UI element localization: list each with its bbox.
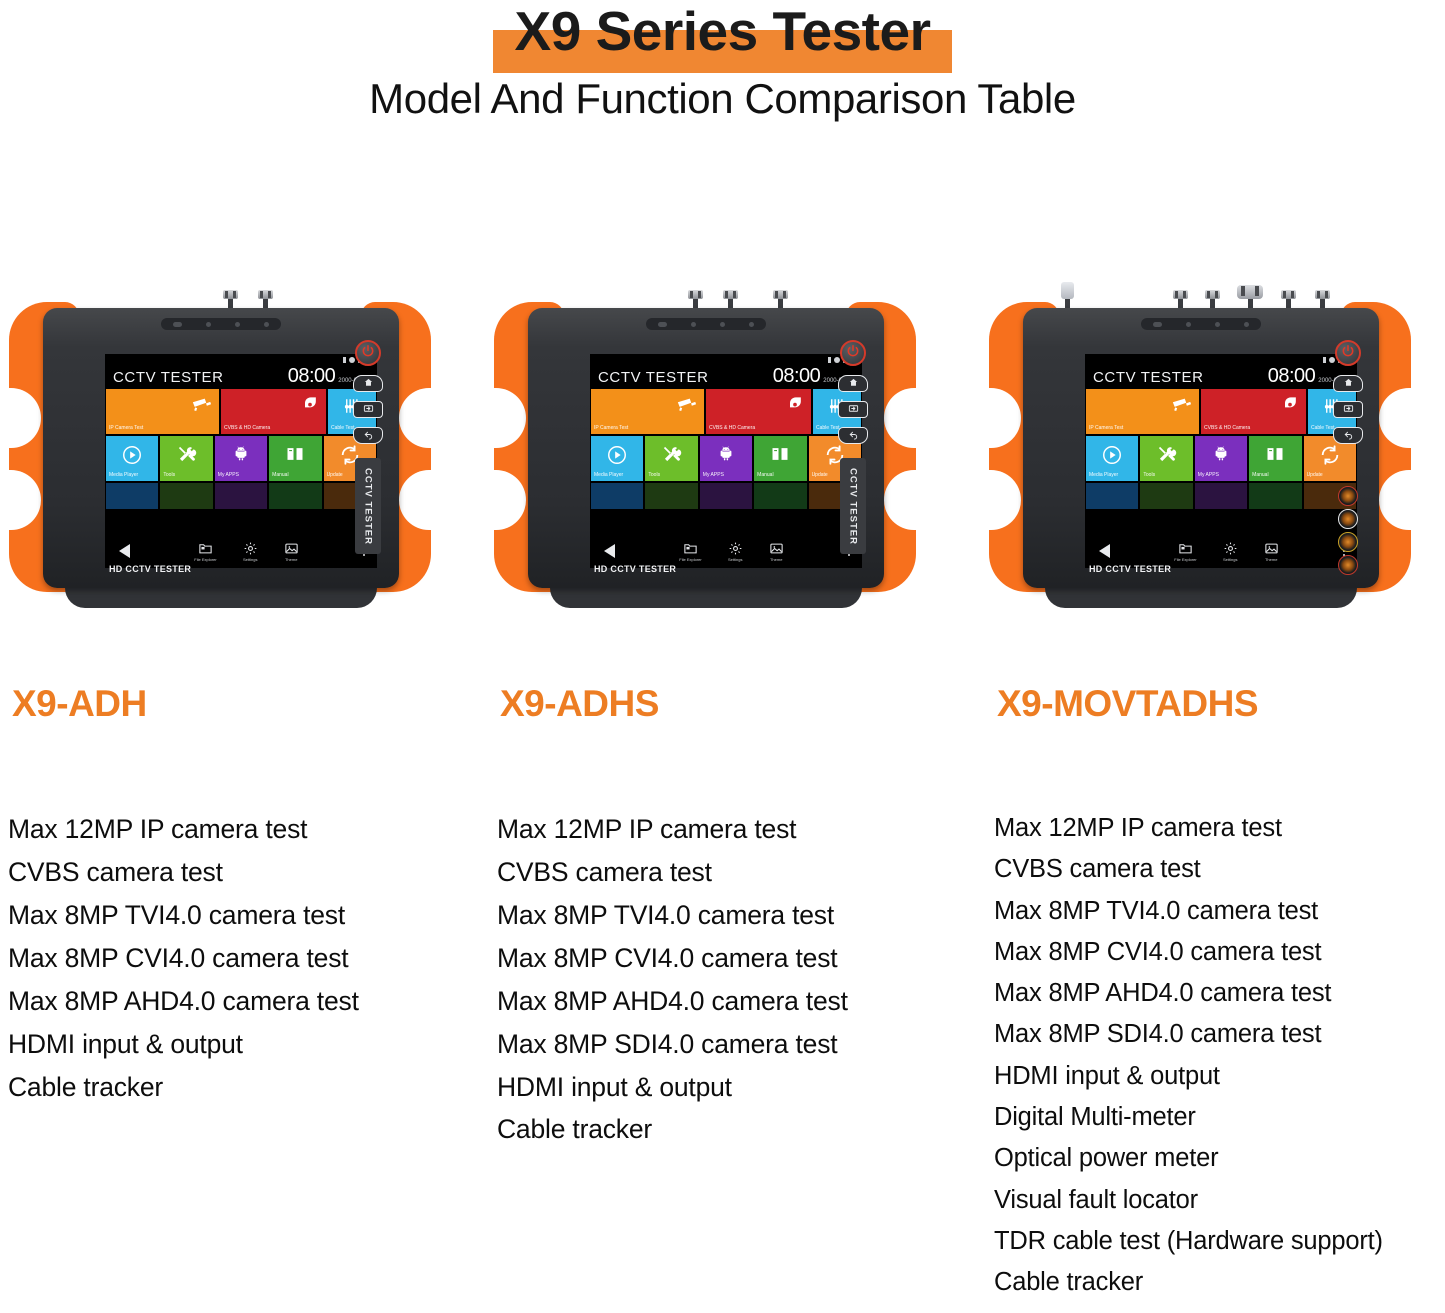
play-icon [591,444,643,470]
app-tile-partial[interactable] [214,482,268,510]
app-tile-partial[interactable] [268,482,322,510]
home-button[interactable] [353,375,383,392]
power-icon [1341,344,1355,363]
home-button[interactable] [1333,375,1363,392]
app-tile-cvbs-hd-camera[interactable]: CVBS & HD Camera [705,388,812,435]
navbar-item-theme[interactable]: Theme [1264,541,1279,562]
app-tile-partial[interactable] [1194,482,1248,510]
nav-back-icon[interactable] [604,544,615,558]
navbar-item-file-explorer[interactable]: File Explorer [1174,541,1196,562]
side-brand-label: CCTV TESTER [840,458,866,554]
device-cell-3: CCTV TESTER08:002000-01-01IP Camera Test… [985,290,1435,620]
navbar-item-label: Theme [285,557,297,562]
app-tile-partial[interactable] [699,482,753,510]
menu-button[interactable] [1333,401,1363,418]
play-icon [1086,444,1138,470]
app-tile-grid: IP Camera TestCVBS & HD CameraCable Test… [105,388,377,510]
device-screen[interactable]: CCTV TESTER08:002000-01-01IP Camera Test… [105,354,377,568]
cctv-tester-device: CCTV TESTER08:002000-01-01IP Camera Test… [985,290,1415,610]
feature-item: Digital Multi-meter [994,1097,1444,1138]
cctv-camera-icon [191,394,213,420]
tile-label: My APPS [1195,472,1219,481]
book-icon [754,444,806,468]
power-button[interactable] [840,340,866,366]
screenshot-icon [362,401,375,419]
app-tile-manual[interactable]: Manual [1248,435,1302,482]
device-model-label: HD CCTV TESTER [1089,564,1171,574]
app-tile-grid: IP Camera TestCVBS & HD CameraCable Test… [1085,388,1357,510]
feature-item: Max 8MP CVI4.0 camera test [497,937,967,980]
gear-icon [728,541,743,556]
feature-item: Cable tracker [8,1066,478,1109]
sd-card-icon [1323,357,1326,363]
app-tile-partial[interactable] [1085,482,1139,510]
app-tile-cvbs-hd-camera[interactable]: CVBS & HD Camera [220,388,327,435]
back-button[interactable] [1333,427,1363,444]
navbar-item-label: Settings [1223,557,1237,562]
title-block: X9 Series Tester [493,4,953,59]
side-button-column: CCTV TESTER [347,336,389,598]
page-subtitle: Model And Function Comparison Table [0,75,1445,123]
tile-row-1: IP Camera TestCVBS & HD CameraCable Test [590,388,862,435]
tools-icon [160,444,212,469]
tile-label: Media Player [106,472,138,481]
feature-item: Max 8MP AHD4.0 camera test [994,973,1444,1014]
feature-list-1: Max 12MP IP camera testCVBS camera testM… [8,808,478,1108]
app-tile-tools[interactable]: Tools [644,435,698,482]
power-icon [361,344,375,363]
device-model-label: HD CCTV TESTER [109,564,191,574]
screenshot-icon [847,401,860,419]
feature-item: Max 8MP AHD4.0 camera test [8,980,478,1023]
android-navbar: File ExplorerSettingsTheme [590,534,862,568]
app-tile-partial[interactable] [1248,482,1302,510]
banana-jack-port [1338,555,1358,575]
tile-row-2: Media PlayerToolsMy APPSManualUpdate [105,435,377,482]
android-navbar: File ExplorerSettingsTheme [1085,534,1357,568]
feature-item: Cable tracker [497,1108,967,1151]
feature-item: Max 8MP TVI4.0 camera test [994,891,1444,932]
menu-button[interactable] [353,401,383,418]
navbar-item-label: Theme [1265,557,1277,562]
banana-jack-port [1338,486,1358,506]
app-tile-partial[interactable] [590,482,644,510]
app-tile-partial[interactable] [159,482,213,510]
navbar-item-label: File Explorer [194,557,216,562]
tile-row-3 [590,482,862,510]
tile-label: Update [809,472,828,481]
chassis-base [65,586,377,608]
banana-jack-port [1338,532,1358,552]
tile-label: IP Camera Test [1086,425,1123,434]
screen-brand-label: CCTV TESTER [598,369,709,388]
feature-item: Cable tracker [994,1262,1444,1303]
screenshot-icon [1342,401,1355,419]
folder-icon [683,541,698,556]
feature-item: Max 12MP IP camera test [8,808,478,851]
dome-camera-icon [785,394,805,418]
feature-item: HDMI input & output [8,1023,478,1066]
play-icon [106,444,158,470]
chassis-base [1045,586,1357,608]
model-name-row: X9-ADH X9-ADHS X9-MOVTADHS [0,683,1445,739]
device-chassis: CCTV TESTER08:002000-01-01IP Camera Test… [528,308,884,588]
navbar-item-theme[interactable]: Theme [769,541,784,562]
feature-item: Max 12MP IP camera test [497,808,967,851]
feature-item: Max 8MP TVI4.0 camera test [8,894,478,937]
tile-label: My APPS [700,472,724,481]
sensor-strip [1141,318,1261,330]
feature-item: Max 12MP IP camera test [994,808,1444,849]
feature-item: Max 8MP SDI4.0 camera test [994,1014,1444,1055]
app-tile-ip-camera-test[interactable]: IP Camera Test [1085,388,1200,435]
book-icon [1249,444,1301,468]
screen-status-bar: CCTV TESTER08:002000-01-01 [1085,354,1357,388]
tile-row-1: IP Camera TestCVBS & HD CameraCable Test [105,388,377,435]
navbar-shortcuts: File ExplorerSettingsTheme [615,541,848,562]
navbar-item-label: Settings [728,557,742,562]
book-icon [269,444,321,468]
navbar-item-file-explorer[interactable]: File Explorer [194,541,216,562]
device-chassis: CCTV TESTER08:002000-01-01IP Camera Test… [43,308,399,588]
app-tile-manual[interactable]: Manual [268,435,322,482]
tile-label: Tools [160,472,175,481]
cctv-camera-icon [676,394,698,420]
navbar-item-settings[interactable]: Settings [1223,541,1238,562]
sd-card-icon [343,357,346,363]
android-icon [215,444,267,466]
clock-time: 08:00 [1268,366,1316,386]
navbar-item-label: Settings [243,557,257,562]
back-arrow-icon [847,427,860,445]
app-tile-my-apps[interactable]: My APPS [214,435,268,482]
screen-status-bar: CCTV TESTER08:002000-01-01 [590,354,862,388]
android-navbar: File ExplorerSettingsTheme [105,534,377,568]
navbar-item-settings[interactable]: Settings [728,541,743,562]
tile-label: Manual [269,472,288,481]
navbar-item-theme[interactable]: Theme [284,541,299,562]
menu-button[interactable] [838,401,868,418]
feature-item: Max 8MP AHD4.0 camera test [497,980,967,1023]
app-tile-manual[interactable]: Manual [753,435,807,482]
feature-item: Max 8MP CVI4.0 camera test [8,937,478,980]
tile-label: Manual [754,472,773,481]
app-tile-media-player[interactable]: Media Player [1085,435,1139,482]
feature-item: CVBS camera test [8,851,478,894]
image-icon [1264,541,1279,556]
app-tile-ip-camera-test[interactable]: IP Camera Test [105,388,220,435]
tile-row-3 [1085,482,1357,510]
power-button[interactable] [1335,340,1361,366]
device-chassis: CCTV TESTER08:002000-01-01IP Camera Test… [1023,308,1379,588]
app-tile-media-player[interactable]: Media Player [590,435,644,482]
feature-item: CVBS camera test [994,849,1444,890]
tile-label: Manual [1249,472,1268,481]
tile-label: Tools [645,472,660,481]
chassis-base [550,586,862,608]
home-button[interactable] [838,375,868,392]
tile-label: CVBS & HD Camera [1201,425,1250,434]
multimeter-jack-panel [1329,486,1367,575]
feature-item: Max 8MP SDI4.0 camera test [497,1023,967,1066]
back-arrow-icon [1342,427,1355,445]
sensor-strip [646,318,766,330]
screen-status-bar: CCTV TESTER08:002000-01-01 [105,354,377,388]
feature-item: CVBS camera test [497,851,967,894]
feature-item: TDR cable test (Hardware support) [994,1221,1444,1262]
side-brand-label: CCTV TESTER [355,458,381,554]
feature-list-2: Max 12MP IP camera testCVBS camera testM… [497,808,967,1151]
tile-label: Media Player [1086,472,1118,481]
app-tile-cvbs-hd-camera[interactable]: CVBS & HD Camera [1200,388,1307,435]
navbar-shortcuts: File ExplorerSettingsTheme [130,541,363,562]
tools-icon [1140,444,1192,469]
cctv-tester-device: CCTV TESTER08:002000-01-01IP Camera Test… [490,290,920,610]
tile-row-2: Media PlayerToolsMy APPSManualUpdate [1085,435,1357,482]
android-icon [1195,444,1247,466]
model-name-2: X9-ADHS [500,683,659,725]
feature-item: Visual fault locator [994,1180,1444,1221]
device-model-label: HD CCTV TESTER [594,564,676,574]
clock-time: 08:00 [773,366,821,386]
home-icon [847,375,860,393]
navbar-item-file-explorer[interactable]: File Explorer [679,541,701,562]
model-name-3: X9-MOVTADHS [997,683,1258,725]
power-icon [846,344,860,363]
back-arrow-icon [362,427,375,445]
tools-icon [645,444,697,469]
dome-camera-icon [300,394,320,418]
tile-label: CVBS & HD Camera [221,425,270,434]
feature-item: HDMI input & output [994,1056,1444,1097]
dome-camera-icon [1280,394,1300,418]
tile-label: Update [1304,472,1323,481]
clock-time: 08:00 [288,366,336,386]
app-tile-partial[interactable] [1139,482,1193,510]
app-tile-ip-camera-test[interactable]: IP Camera Test [590,388,705,435]
sd-card-icon [828,357,831,363]
gear-icon [1223,541,1238,556]
app-tile-grid: IP Camera TestCVBS & HD CameraCable Test… [590,388,862,510]
tile-label: Media Player [591,472,623,481]
app-tile-my-apps[interactable]: My APPS [699,435,753,482]
banana-jack-port [1338,509,1358,529]
sensor-strip [161,318,281,330]
gear-icon [243,541,258,556]
navbar-item-settings[interactable]: Settings [243,541,258,562]
app-tile-media-player[interactable]: Media Player [105,435,159,482]
back-button[interactable] [838,427,868,444]
nav-back-icon[interactable] [1099,544,1110,558]
tile-label: IP Camera Test [106,425,143,434]
page-title: X9 Series Tester [507,4,939,59]
home-icon [1342,375,1355,393]
feature-item: HDMI input & output [497,1066,967,1109]
cctv-camera-icon [1171,394,1193,420]
app-tile-tools[interactable]: Tools [159,435,213,482]
navbar-item-label: Theme [770,557,782,562]
feature-item: Optical power meter [994,1138,1444,1179]
feature-item: Max 8MP CVI4.0 camera test [994,932,1444,973]
back-button[interactable] [353,427,383,444]
tile-label: CVBS & HD Camera [706,425,755,434]
tile-label: Update [324,472,343,481]
navbar-item-label: File Explorer [679,557,701,562]
page-header: X9 Series Tester Model And Function Comp… [0,0,1445,123]
app-tile-partial[interactable] [105,482,159,510]
screen-brand-label: CCTV TESTER [113,369,224,388]
app-tile-partial[interactable] [644,482,698,510]
image-icon [769,541,784,556]
tile-row-3 [105,482,377,510]
side-button-column: CCTV TESTER [832,336,874,598]
device-cell-2: CCTV TESTER08:002000-01-01IP Camera Test… [490,290,940,620]
navbar-item-label: File Explorer [1174,557,1196,562]
power-button[interactable] [355,340,381,366]
tile-label: IP Camera Test [591,425,628,434]
app-tile-tools[interactable]: Tools [1139,435,1193,482]
model-name-1: X9-ADH [12,683,147,725]
tile-row-1: IP Camera TestCVBS & HD CameraCable Test [1085,388,1357,435]
app-tile-partial[interactable] [753,482,807,510]
device-image-row: CCTV TESTER08:002000-01-01IP Camera Test… [0,290,1445,620]
tile-label: My APPS [215,472,239,481]
cctv-tester-device: CCTV TESTER08:002000-01-01IP Camera Test… [5,290,435,610]
device-screen[interactable]: CCTV TESTER08:002000-01-01IP Camera Test… [590,354,862,568]
navbar-shortcuts: File ExplorerSettingsTheme [1110,541,1343,562]
app-tile-my-apps[interactable]: My APPS [1194,435,1248,482]
nav-back-icon[interactable] [119,544,130,558]
home-icon [362,375,375,393]
device-cell-1: CCTV TESTER08:002000-01-01IP Camera Test… [5,290,455,620]
folder-icon [1178,541,1193,556]
android-icon [700,444,752,466]
device-screen[interactable]: CCTV TESTER08:002000-01-01IP Camera Test… [1085,354,1357,568]
tile-row-2: Media PlayerToolsMy APPSManualUpdate [590,435,862,482]
folder-icon [198,541,213,556]
tile-label: Tools [1140,472,1155,481]
image-icon [284,541,299,556]
screen-brand-label: CCTV TESTER [1093,369,1204,388]
feature-list-3: Max 12MP IP camera testCVBS camera testM… [994,808,1444,1304]
feature-item: Max 8MP TVI4.0 camera test [497,894,967,937]
